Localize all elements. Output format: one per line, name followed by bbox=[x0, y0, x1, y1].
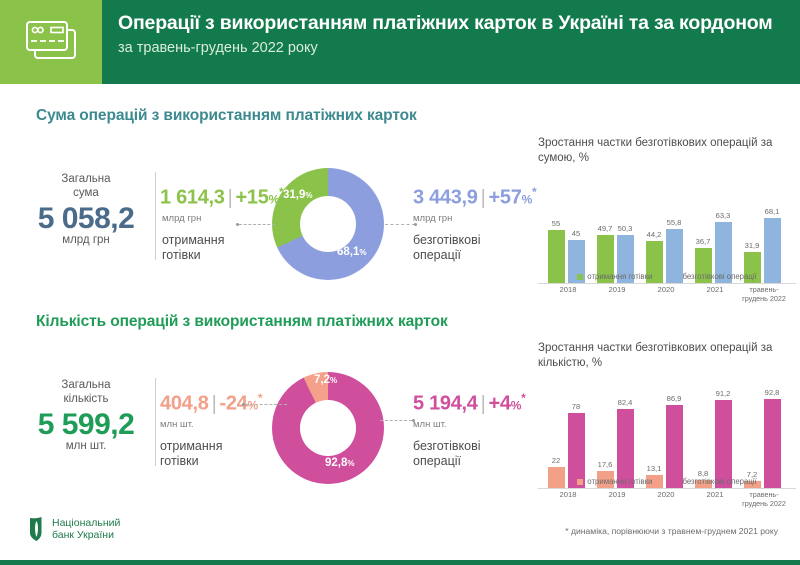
bar-chart-count-title: Зростання частки безготівкових операцій … bbox=[538, 341, 796, 370]
page-title: Операції з використанням платіжних карто… bbox=[118, 6, 790, 36]
legend-swatch-cashless-icon bbox=[672, 274, 678, 280]
sum-cashless-separator: | bbox=[478, 187, 489, 209]
bar-value-label: 22 bbox=[544, 456, 568, 465]
donut-count-cashless-label: 92,8% bbox=[325, 457, 355, 469]
sum-cash-caption-line2: готівки bbox=[162, 248, 201, 262]
bar-group: 8,891,22021 bbox=[693, 376, 737, 488]
bar-value-label: 36,7 bbox=[691, 237, 715, 246]
payment-card-icon bbox=[24, 19, 78, 66]
count-cashless-block: 5 194,4|+4%* млн шт. безготівкові операц… bbox=[413, 386, 526, 469]
count-cashless-value: 5 194,4 bbox=[413, 393, 478, 415]
divider-count bbox=[155, 378, 156, 466]
donut-sum-cashless-pct: % bbox=[359, 248, 366, 257]
bar-group: 36,763,32021 bbox=[693, 171, 737, 283]
donut-chart-sum bbox=[272, 168, 384, 280]
connector-dot-count-left bbox=[242, 403, 245, 406]
donut-sum-hole bbox=[300, 196, 356, 252]
legend-swatch-cash-icon bbox=[577, 274, 583, 280]
connector-count-left bbox=[245, 404, 287, 406]
sum-cash-block: 1 614,3|+15%* млрд грн отримання готівки bbox=[160, 180, 283, 263]
bar-value-label: 13,1 bbox=[642, 464, 666, 473]
x-axis-label: 2019 bbox=[590, 490, 644, 499]
count-cash-separator: | bbox=[209, 393, 220, 415]
donut-sum-cash-label: 31,9% bbox=[283, 189, 313, 201]
x-axis-label: 2018 bbox=[541, 490, 595, 499]
sum-cash-headline: 1 614,3|+15%* bbox=[160, 180, 283, 212]
bar-group: 13,186,92020 bbox=[644, 376, 688, 488]
count-cashless-caption-line1: безготівкові bbox=[413, 439, 481, 453]
connector-sum-right bbox=[385, 224, 415, 226]
connector-dot-sum-left bbox=[236, 223, 239, 226]
bar-cashless bbox=[715, 400, 732, 488]
bar-value-label: 55 bbox=[544, 219, 568, 228]
count-cashless-percent-sign: % bbox=[511, 399, 521, 413]
count-cash-caption-line1: отримання bbox=[160, 439, 222, 453]
connector-dot-sum-right bbox=[414, 223, 417, 226]
total-count-block: Загальна кількість 5 599,2 млн шт. bbox=[22, 378, 150, 452]
total-count-label-line2: кількість bbox=[22, 392, 150, 406]
total-sum-label-line2: сума bbox=[22, 186, 150, 200]
nbu-logo-text: Національний банк України bbox=[52, 517, 120, 542]
sum-cashless-caption-line1: безготівкові bbox=[413, 233, 481, 247]
bar-value-label: 31,9 bbox=[740, 241, 764, 250]
bar-group: 17,682,42019 bbox=[595, 376, 639, 488]
donut-count-cashless-pct: % bbox=[347, 459, 354, 468]
legend-item-cash: отримання готівки bbox=[577, 272, 652, 281]
total-count-value: 5 599,2 bbox=[22, 408, 150, 442]
divider-sum bbox=[155, 172, 156, 260]
page-header: Операції з використанням платіжних карто… bbox=[0, 0, 800, 84]
count-cash-caption-line2: готівки bbox=[160, 454, 199, 468]
bar-value-label: 17,6 bbox=[593, 460, 617, 469]
sum-cash-caption-line1: отримання bbox=[162, 233, 224, 247]
bar-value-label: 86,9 bbox=[662, 394, 686, 403]
count-cash-block: 404,8|-24%* млн шт. отримання готівки bbox=[160, 386, 262, 469]
x-axis-label: 2020 bbox=[639, 490, 693, 499]
donut-sum-cashless-label: 68,1% bbox=[337, 246, 367, 258]
legend-item-cash: отримання готівки bbox=[577, 477, 652, 486]
count-cash-headline: 404,8|-24%* bbox=[160, 386, 262, 418]
nbu-logo-line1: Національний bbox=[52, 517, 120, 529]
sum-cashless-value: 3 443,9 bbox=[413, 187, 478, 209]
bar-chart-sum-share: Зростання частки безготівкових операцій … bbox=[538, 136, 796, 284]
x-axis-label: 2019 bbox=[590, 285, 644, 294]
header-text-block: Операції з використанням платіжних карто… bbox=[118, 6, 790, 58]
bar-group: 22782018 bbox=[546, 376, 590, 488]
legend-item-cashless: безготівкові операції bbox=[672, 272, 756, 281]
donut-sum-cash-value: 31,9 bbox=[283, 189, 305, 201]
sum-cashless-delta: +57 bbox=[489, 187, 522, 209]
sum-cashless-percent-sign: % bbox=[522, 193, 532, 207]
count-cash-footnote-star: * bbox=[258, 391, 262, 405]
bar-chart-sum-title: Зростання частки безготівкових операцій … bbox=[538, 136, 796, 165]
count-cash-value: 404,8 bbox=[160, 393, 209, 415]
legend-label-cash: отримання готівки bbox=[587, 477, 652, 486]
x-axis-label: 2018 bbox=[541, 285, 595, 294]
bar-group: 7,292,8травень-грудень 2022 bbox=[742, 376, 786, 488]
footnote: * динаміка, порівнюючи з травнем-груднем… bbox=[565, 526, 778, 536]
count-cashless-footnote-star: * bbox=[521, 391, 525, 405]
footer-bar bbox=[0, 560, 800, 565]
bar-value-label: 91,2 bbox=[711, 389, 735, 398]
donut-count-cash-pct: % bbox=[330, 376, 337, 385]
bar-value-label: 78 bbox=[564, 402, 588, 411]
bar-value-label: 45 bbox=[564, 229, 588, 238]
bar-chart-count-plot: 2278201817,682,4201913,186,920208,891,22… bbox=[538, 376, 796, 489]
count-cashless-caption: безготівкові операції bbox=[413, 439, 526, 469]
bar-value-label: 82,4 bbox=[613, 398, 637, 407]
donut-count-cashless-value: 92,8 bbox=[325, 457, 347, 469]
bar-group: 31,968,1травень-грудень 2022 bbox=[742, 171, 786, 283]
bar-value-label: 63,3 bbox=[711, 211, 735, 220]
sum-cashless-unit: млрд грн bbox=[413, 213, 536, 224]
sum-cashless-footnote-star: * bbox=[532, 185, 536, 199]
donut-count-cash-label: 7,2% bbox=[314, 374, 337, 386]
x-axis-label: 2021 bbox=[688, 490, 742, 499]
bar-value-label: 68,1 bbox=[760, 207, 784, 216]
x-axis-label: 2020 bbox=[639, 285, 693, 294]
bar-value-label: 92,8 bbox=[760, 388, 784, 397]
nbu-logo-line2: банк України bbox=[52, 529, 114, 541]
bar-chart-sum-plot: 5545201849,750,3201944,255,8202036,763,3… bbox=[538, 171, 796, 284]
nbu-trident-icon bbox=[28, 516, 45, 542]
donut-count-hole bbox=[300, 400, 356, 456]
count-cash-caption: отримання готівки bbox=[160, 439, 262, 469]
section-title-sum: Сума операцій з використанням платіжних … bbox=[36, 107, 417, 125]
legend-label-cashless: безготівкові операції bbox=[682, 477, 756, 486]
sum-cash-unit: млрд грн bbox=[160, 213, 283, 224]
total-sum-label-line1: Загальна bbox=[22, 172, 150, 186]
bar-group: 49,750,32019 bbox=[595, 171, 639, 283]
sum-cashless-caption: безготівкові операції bbox=[413, 233, 536, 263]
count-cashless-delta: +4 bbox=[489, 393, 511, 415]
bar-cashless bbox=[764, 399, 781, 488]
bar-value-label: 50,3 bbox=[613, 224, 637, 233]
x-axis-label: травень-грудень 2022 bbox=[737, 285, 791, 303]
count-cashless-unit: млн шт. bbox=[413, 419, 526, 430]
donut-count-cash-value: 7,2 bbox=[314, 374, 330, 386]
bar-cashless bbox=[666, 405, 683, 488]
sum-cash-separator: | bbox=[225, 187, 236, 209]
bar-value-label: 55,8 bbox=[662, 218, 686, 227]
count-cashless-headline: 5 194,4|+4%* bbox=[413, 386, 526, 418]
count-cashless-separator: | bbox=[478, 393, 489, 415]
sum-cash-caption: отримання готівки bbox=[160, 233, 283, 263]
bar-chart-sum-legend: отримання готівки безготівкові операції bbox=[538, 272, 796, 281]
sum-cash-value: 1 614,3 bbox=[160, 187, 225, 209]
legend-item-cashless: безготівкові операції bbox=[672, 477, 756, 486]
legend-swatch-cash-icon bbox=[577, 479, 583, 485]
legend-label-cash: отримання готівки bbox=[587, 272, 652, 281]
sum-cash-delta: +15 bbox=[236, 187, 269, 209]
sum-cashless-caption-line2: операції bbox=[413, 248, 461, 262]
count-cash-unit: млн шт. bbox=[160, 419, 262, 430]
connector-sum-left bbox=[239, 224, 275, 226]
connector-dot-count-right bbox=[412, 419, 415, 422]
bar-group: 44,255,82020 bbox=[644, 171, 688, 283]
sum-cashless-block: 3 443,9|+57%* млрд грн безготівкові опер… bbox=[413, 180, 536, 263]
section-title-count: Кількість операцій з використанням платі… bbox=[36, 313, 448, 331]
page-subtitle: за травень-грудень 2022 року bbox=[118, 39, 790, 58]
legend-swatch-cashless-icon bbox=[672, 479, 678, 485]
total-count-label-line1: Загальна bbox=[22, 378, 150, 392]
bar-group: 55452018 bbox=[546, 171, 590, 283]
legend-label-cashless: безготівкові операції bbox=[682, 272, 756, 281]
header-icon-container bbox=[0, 0, 102, 84]
bar-chart-count-share: Зростання частки безготівкових операцій … bbox=[538, 341, 796, 489]
x-axis-label: 2021 bbox=[688, 285, 742, 294]
total-sum-value: 5 058,2 bbox=[22, 202, 150, 236]
total-sum-block: Загальна сума 5 058,2 млрд грн bbox=[22, 172, 150, 246]
x-axis-label: травень-грудень 2022 bbox=[737, 490, 791, 508]
connector-count-right bbox=[380, 420, 412, 422]
count-cashless-caption-line2: операції bbox=[413, 454, 461, 468]
nbu-logo: Національний банк України bbox=[28, 516, 120, 542]
sum-cashless-headline: 3 443,9|+57%* bbox=[413, 180, 536, 212]
bar-chart-count-legend: отримання готівки безготівкові операції bbox=[538, 477, 796, 486]
donut-sum-cash-pct: % bbox=[305, 191, 312, 200]
bar-value-label: 44,2 bbox=[642, 230, 666, 239]
donut-sum-cashless-value: 68,1 bbox=[337, 246, 359, 258]
